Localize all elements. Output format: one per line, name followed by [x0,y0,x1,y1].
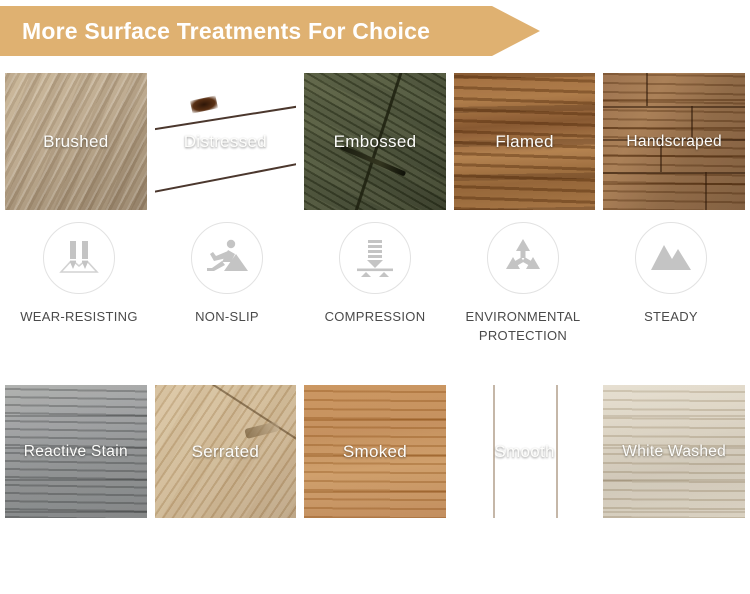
treatment-tile-embossed[interactable]: Embossed [304,73,446,210]
tile-label: Embossed [334,132,417,152]
tile-label: Smoked [343,442,407,462]
treatment-tile-smoked[interactable]: Smoked [304,385,446,518]
tile-label: Serrated [192,442,260,462]
bottom-treatment-row: Reactive Stain Serrated Smoked Smooth Wh… [5,385,745,518]
banner: More Surface Treatments For Choice [0,6,540,56]
treatment-tile-reactive-stain[interactable]: Reactive Stain [5,385,147,518]
feature-environmental-protection[interactable]: ENVIRONMENTAL PROTECTION [449,222,597,372]
treatment-tile-flamed[interactable]: Flamed [454,73,596,210]
feature-steady[interactable]: STEADY [597,222,745,372]
treatment-tile-smooth[interactable]: Smooth [454,385,596,518]
surface-treatments-panel: More Surface Treatments For Choice Brush… [0,0,750,594]
icon-circle [635,222,707,294]
compression-icon [352,235,398,281]
feature-icons-row: WEAR-RESISTING NON-SLIP [5,222,745,372]
mountain-icon [648,235,694,281]
feature-label: STEADY [644,308,698,327]
tile-label: Flamed [495,132,554,152]
icon-circle [339,222,411,294]
plank-seam [705,172,707,210]
recycle-icon [501,236,545,280]
plank-seam [603,106,745,108]
icon-circle [43,222,115,294]
plank-seam [603,172,745,174]
banner-arrow-shape: More Surface Treatments For Choice [0,6,540,56]
feature-label: NON-SLIP [195,308,259,327]
treatment-tile-white-washed[interactable]: White Washed [603,385,745,518]
tile-label: Handscraped [626,133,722,151]
tile-label: Distressed [184,132,267,152]
feature-label: ENVIRONMENTAL PROTECTION [464,308,582,346]
treatment-tile-distressed[interactable]: Distressed [155,73,297,210]
plank-seam [556,385,558,518]
top-treatment-row: Brushed Distressed Embossed Flamed [5,73,745,210]
feature-non-slip[interactable]: NON-SLIP [153,222,301,372]
feature-label: COMPRESSION [325,308,426,327]
plank-seam [646,73,648,106]
feature-wear-resisting[interactable]: WEAR-RESISTING [5,222,153,372]
treatment-tile-brushed[interactable]: Brushed [5,73,147,210]
treatment-tile-handscraped[interactable]: Handscraped [603,73,745,210]
tile-label: Reactive Stain [24,443,128,461]
treatment-tile-serrated[interactable]: Serrated [155,385,297,518]
page-title: More Surface Treatments For Choice [0,18,430,45]
feature-label: WEAR-RESISTING [20,308,138,327]
tile-label: Brushed [43,132,108,152]
icon-circle [487,222,559,294]
feature-compression[interactable]: COMPRESSION [301,222,449,372]
wear-resisting-icon [56,235,102,281]
icon-circle [191,222,263,294]
tile-label: White Washed [622,443,726,461]
non-slip-icon [204,235,250,281]
tile-label: Smooth [494,442,554,462]
